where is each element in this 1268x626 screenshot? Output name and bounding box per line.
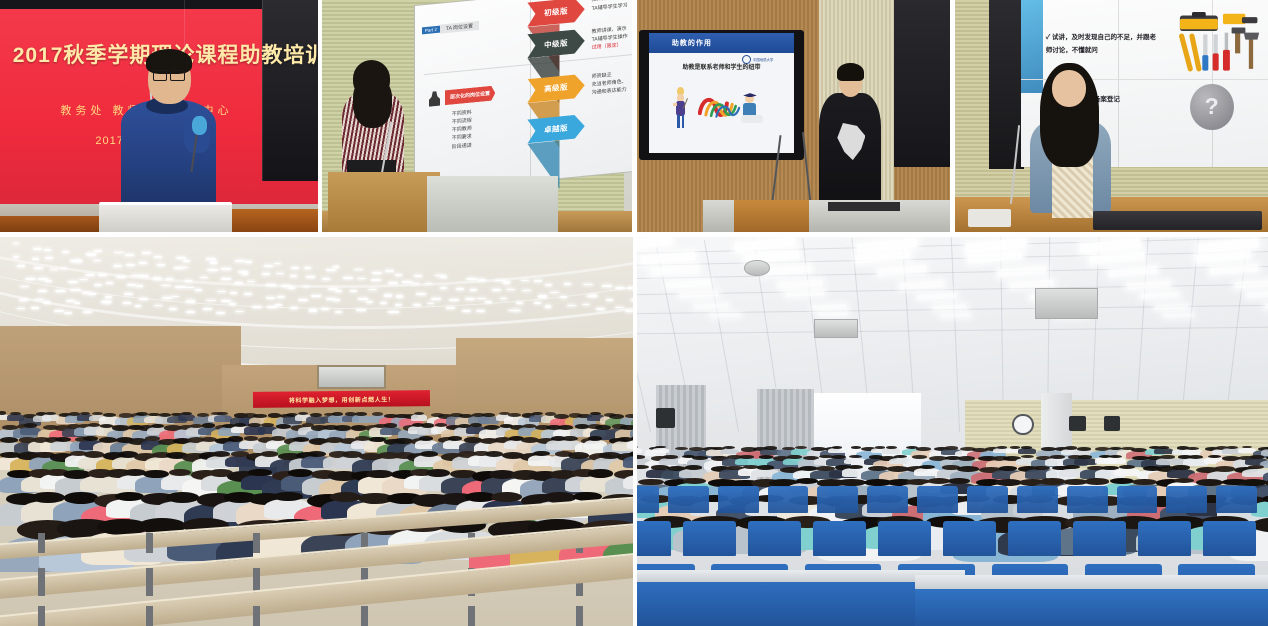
fluorescent-light-panel <box>941 314 970 318</box>
fluorescent-light-panel <box>779 280 822 288</box>
ceiling-downlight <box>136 285 143 287</box>
audience-member-head <box>1085 478 1109 484</box>
ceiling-downlight <box>44 301 51 303</box>
audience-member-head <box>0 411 6 414</box>
audience-member-body <box>1074 458 1097 465</box>
audience-member-body <box>882 448 901 454</box>
toolbox-icon <box>1174 12 1262 72</box>
ceiling-downlight <box>538 295 547 297</box>
ceiling-downlight <box>207 269 218 271</box>
audience-member-head <box>166 492 199 503</box>
ceiling-downlight <box>25 278 36 280</box>
ceiling-downlight <box>55 290 66 292</box>
classroom-seat <box>1166 486 1207 513</box>
audience-member-head <box>330 492 361 502</box>
wall-speaker-center <box>1069 416 1085 432</box>
ceiling-downlight <box>356 309 366 311</box>
ceiling-downlight <box>343 277 353 279</box>
audience-member-head <box>675 447 688 450</box>
audience-member-head <box>414 412 424 415</box>
eyeglasses-left-lens <box>153 70 168 82</box>
audience-member-head <box>851 446 862 449</box>
ceiling-downlight <box>34 267 43 269</box>
slide-section-label: 层次化的岗位设置 <box>445 86 495 106</box>
audience-member-head <box>55 437 71 442</box>
audience-member-head <box>268 413 281 417</box>
ceiling-downlight <box>264 265 273 267</box>
slide-title: 助教的作用 <box>672 38 712 48</box>
ceiling-downlight <box>326 269 336 271</box>
ceiling-downlight <box>275 304 283 306</box>
student-cartoon-icon <box>739 93 765 129</box>
ceiling-downlight <box>333 299 340 301</box>
desk-leg <box>146 568 153 595</box>
classroom-seat <box>817 486 858 513</box>
ceiling-downlight <box>311 295 321 296</box>
desk-leg <box>146 533 153 552</box>
audience-member-head <box>832 446 843 449</box>
audience-member-head <box>692 456 708 460</box>
audience-member-head <box>757 465 774 469</box>
audience-member-head <box>1077 447 1091 451</box>
audience-member-head <box>957 466 979 472</box>
fluorescent-light-panel <box>1109 266 1157 276</box>
ceiling-downlight <box>157 264 166 266</box>
wall-speaker-left <box>656 408 675 427</box>
fluorescent-light-panel <box>763 265 811 275</box>
fluorescent-light-panel <box>1127 280 1170 288</box>
classroom-seat <box>867 486 908 513</box>
audience-member-head <box>764 446 776 449</box>
fluorescent-light-panel <box>1089 251 1144 264</box>
ceiling-downlight <box>425 283 432 284</box>
lectern-wood <box>328 172 440 232</box>
dark-wall-panel <box>989 0 1023 169</box>
ceiling-downlight <box>503 281 511 283</box>
panel-opening-ceremony-speaker: 2017秋季学期理论课程助教培训会 教务处 教师教学发展中心 2017.9 <box>0 0 318 232</box>
classroom-seat <box>1073 521 1126 556</box>
desk-leg <box>253 533 260 552</box>
audience-member-body <box>828 448 846 453</box>
audience-member-head <box>202 423 215 427</box>
lcd-screen: 助教的作用 中国地质大学 助教是联系老师和学生的纽带 <box>649 33 795 153</box>
ceiling-downlight <box>161 285 171 286</box>
audience-member-head <box>1240 479 1267 486</box>
ceiling-downlight <box>288 287 295 289</box>
audience-member-head <box>1158 446 1169 449</box>
ceiling-downlight <box>186 300 195 302</box>
slogan-banner: 将科学融入梦想，用创新点燃人生！ <box>253 390 430 408</box>
panel-flat-classroom-audience <box>637 237 1268 626</box>
slide-title-bar: 助教的作用 <box>649 33 795 52</box>
ceiling-downlight <box>476 310 485 312</box>
audience-member-head <box>588 469 614 477</box>
audience-member-head <box>685 465 702 469</box>
dark-wall-panel <box>894 0 950 167</box>
audience-member-head <box>298 412 308 415</box>
audience-member-head <box>916 447 931 451</box>
audience-member-head <box>420 451 438 457</box>
fluorescent-light-panel <box>933 305 966 310</box>
fluorescent-light-panel <box>877 265 925 275</box>
ceiling-downlight <box>116 276 126 278</box>
ceiling-downlight <box>206 258 216 260</box>
fluorescent-light-panel <box>917 293 955 300</box>
ceiling-downlight <box>125 254 133 256</box>
lectern-console <box>427 176 557 232</box>
audience-member-head <box>244 436 259 441</box>
ceiling-downlight <box>582 304 591 305</box>
ceiling-downlight <box>602 285 612 287</box>
fluorescent-light-panel <box>1265 304 1268 309</box>
wall-clock-icon <box>1012 414 1033 435</box>
ceiling-downlight <box>366 301 374 303</box>
ceiling-downlight <box>106 282 113 284</box>
ceiling-downlight <box>210 261 216 263</box>
audience-member-head <box>24 423 37 427</box>
audience-member-head <box>999 466 1018 471</box>
ceiling-downlight <box>139 262 147 263</box>
desk-leg <box>146 606 153 626</box>
ceiling-downlight <box>516 302 523 304</box>
audience-member-head <box>384 423 397 427</box>
ceiling-downlight <box>306 276 314 278</box>
air-conditioner-vent <box>1035 288 1098 319</box>
audience-member-head <box>1160 455 1174 459</box>
ceiling-downlight <box>185 280 193 282</box>
ceiling-downlight <box>154 256 162 258</box>
ceiling-downlight <box>31 307 39 309</box>
audience-member-head <box>448 436 462 441</box>
fluorescent-light-panel <box>819 313 848 317</box>
ceiling-downlight <box>85 274 95 276</box>
podium <box>99 202 233 232</box>
desk-leg <box>38 568 45 595</box>
audience-member-head <box>293 437 309 442</box>
ceiling-downlight <box>396 295 403 297</box>
ceiling-downlight <box>166 278 173 280</box>
ceiling-downlight <box>534 280 542 281</box>
audience-member-body <box>914 468 940 476</box>
ceiling-downlight <box>625 310 633 312</box>
ceiling-downlight <box>380 302 387 304</box>
ceiling-downlight <box>70 289 81 291</box>
ceiling-downlight <box>175 286 185 288</box>
classroom-seat <box>748 521 801 556</box>
slide-bullet-line-1: ✓ 试讲，及时发现自己的不足，并跟老师讨论，不懂就问 <box>1046 32 1159 57</box>
teacher-cartoon-icon <box>672 87 690 128</box>
audience-member-head <box>1065 446 1077 449</box>
fluorescent-light-panel <box>711 314 740 318</box>
fluorescent-light-panel <box>998 266 1046 276</box>
panel-male-speaker-lcd-screen: 助教的作用 中国地质大学 助教是联系老师和学生的纽带 <box>637 0 950 232</box>
microphone-head <box>192 116 206 135</box>
audience-member-head <box>271 436 285 441</box>
fluorescent-light-panel <box>1196 250 1251 263</box>
ceiling-downlight <box>309 309 318 311</box>
ceiling-downlight <box>79 279 87 280</box>
fluorescent-light-panel <box>637 237 672 251</box>
ceiling-downlight <box>470 289 477 291</box>
audience-member-head <box>261 451 279 457</box>
audience-member-head <box>234 423 246 427</box>
ceiling-downlight <box>135 305 142 307</box>
fluorescent-light-panel <box>856 250 911 263</box>
audience-member-body <box>1018 448 1037 454</box>
desk-leg <box>468 606 475 626</box>
ceiling-downlight <box>564 283 572 285</box>
ceiling-downlight <box>252 306 262 308</box>
panel-female-presenter-chevron-slide: Part 2 TA 岗位设置 层次化的岗位设置 不同资料 不同流程 不同教师 不… <box>322 0 632 232</box>
audience-member-head <box>886 446 897 449</box>
audience-member-body <box>214 415 231 422</box>
panel-large-auditorium-audience: 将科学融入梦想，用创新点燃人生！ <box>0 237 633 626</box>
audience-member-head <box>80 412 90 415</box>
audience-member-head <box>1078 455 1092 459</box>
audience-member-head <box>919 465 935 469</box>
ceiling-downlight <box>371 279 381 281</box>
ceiling-downlight <box>153 277 161 279</box>
ceiling-downlight <box>414 275 422 277</box>
audience-member-head <box>261 423 273 427</box>
classroom-seat <box>1117 486 1158 513</box>
ceiling-downlight <box>83 311 93 313</box>
classroom-seat <box>637 486 659 513</box>
presenter-head <box>1052 70 1086 107</box>
classroom-seat <box>668 486 709 513</box>
ceiling-downlight <box>68 281 78 283</box>
speaker-hair <box>837 63 864 82</box>
fluorescent-light-panel <box>734 237 795 252</box>
eyeglasses-right-lens <box>170 70 185 82</box>
audience-member-body <box>627 440 633 449</box>
fluorescent-light-panel <box>813 304 846 309</box>
ceiling-downlight <box>266 297 276 299</box>
audience-member-head <box>1021 446 1032 449</box>
audience-member-head <box>1250 455 1264 459</box>
audience-member-head <box>995 479 1022 486</box>
slide-body-text: 助教是联系老师和学生的纽带 <box>660 62 783 71</box>
audience-member-head <box>568 452 589 459</box>
ceiling-downlight <box>596 308 605 310</box>
ceiling-downlight <box>262 273 270 275</box>
colorful-ribbon-graphic <box>698 93 742 119</box>
ceiling-downlight <box>384 294 393 296</box>
audience-member-head <box>276 424 291 429</box>
ceiling-downlight <box>522 290 531 291</box>
audience-member-head <box>273 492 303 502</box>
level-notes-2: 教师讲课、演示 TA辅导学生操作 试用（限定） <box>592 24 632 54</box>
classroom-seat <box>1067 486 1108 513</box>
audience-member-head <box>787 455 801 459</box>
ceiling-downlight <box>267 306 277 308</box>
audience-member-head <box>491 492 522 502</box>
ceiling-downlight <box>631 299 633 301</box>
screen-seam <box>262 0 263 181</box>
presenter-hair <box>353 60 390 97</box>
ceiling-downlight <box>127 284 136 286</box>
fluorescent-light-panel <box>1164 313 1193 317</box>
audience-member-head <box>64 492 99 503</box>
ceiling-downlight <box>17 265 25 267</box>
dark-wall-panel <box>262 0 318 181</box>
ceiling-downlight <box>221 300 231 302</box>
audience-member-head <box>426 469 450 477</box>
person-silhouette-icon <box>429 91 440 107</box>
ceiling-downlight <box>388 311 398 313</box>
projection-screen: Part 2 TA 岗位设置 层次化的岗位设置 不同资料 不同流程 不同教师 不… <box>415 0 632 192</box>
ceiling-downlight <box>221 268 231 269</box>
wall-speaker-right <box>1104 416 1120 432</box>
audience-member-body <box>637 448 642 453</box>
audience-member-body <box>652 448 669 453</box>
classroom-seat <box>813 521 866 556</box>
ceiling-downlight <box>290 307 298 309</box>
audience-member-head <box>355 436 370 441</box>
fluorescent-light-panel <box>900 280 943 288</box>
ceiling-downlight <box>416 293 425 295</box>
laptop <box>828 202 900 211</box>
ceiling-downlight <box>440 276 447 278</box>
photo-collage: 2017秋季学期理论课程助教培训会 教务处 教师教学发展中心 2017.9 <box>0 0 1268 626</box>
audience-member-head <box>945 446 957 449</box>
audience-member-head <box>759 455 774 459</box>
ceiling-downlight <box>104 301 110 302</box>
ceiling-downlight <box>333 266 340 267</box>
ceiling-downlight <box>321 308 329 310</box>
air-conditioner-vent <box>814 319 858 338</box>
ceiling-downlight <box>514 310 520 311</box>
screen-seam <box>1118 0 1119 167</box>
ceiling-downlight <box>244 293 252 295</box>
audience-member-head <box>739 455 753 459</box>
classroom-seat <box>1138 521 1191 556</box>
audience-member-head <box>10 412 20 415</box>
classroom-seat <box>718 486 759 513</box>
audience-member-head <box>1109 455 1122 458</box>
ceiling-downlight <box>89 293 95 295</box>
ceiling-downlight <box>277 296 285 298</box>
level-banner-4: 卓越版 <box>527 114 584 144</box>
audience-member-head <box>310 413 322 417</box>
ceiling-downlight <box>477 298 486 300</box>
audience-member-head <box>958 456 976 461</box>
ceiling-downlight <box>186 311 195 313</box>
desk-front-panel-right <box>915 587 1268 626</box>
audience-member-head <box>1186 447 1199 450</box>
level-banner-2: 中级版 <box>527 29 584 59</box>
lectern-wood <box>734 200 809 232</box>
classroom-seat <box>1203 521 1256 556</box>
ceiling-downlight <box>358 298 368 299</box>
level-notes-3: 师资缺乏 充当老师角色、 沟通和表达能力 <box>592 68 632 98</box>
ceiling-downlight <box>431 298 440 300</box>
audience-member-head <box>151 424 164 428</box>
audience-member-head <box>45 412 55 415</box>
fluorescent-light-panel <box>1247 291 1268 298</box>
desk-leg <box>38 533 45 552</box>
podium-wood-left <box>0 216 105 232</box>
audience-member-body <box>1104 457 1126 464</box>
ceiling-downlight <box>169 308 177 310</box>
ceiling-downlight <box>350 290 357 292</box>
ceiling-downlight <box>615 287 625 289</box>
classroom-seat <box>1216 486 1257 513</box>
ceiling-downlight <box>45 257 52 259</box>
ceiling-downlight <box>322 278 330 280</box>
ceiling-downlight <box>534 302 542 304</box>
keyboard <box>1093 211 1262 230</box>
ceiling-downlight <box>216 312 225 314</box>
ceiling-downlight <box>411 283 419 285</box>
ceiling-downlight <box>203 308 212 309</box>
fluorescent-light-panel <box>695 303 728 308</box>
level-notes-1: 教师开课、演示 TA辅导学生学习 <box>592 0 632 13</box>
ceiling-downlight <box>335 290 342 292</box>
fluorescent-light-panel <box>968 250 1023 263</box>
ceiling-downlight <box>395 304 402 306</box>
ceiling-downlight <box>298 299 308 301</box>
classroom-seat <box>967 486 1008 513</box>
fluorescent-light-panel <box>667 280 710 288</box>
audience-member-body <box>623 456 633 468</box>
audience-member-head <box>115 492 144 502</box>
audience-member-head <box>84 451 104 457</box>
audience-member-head <box>1172 465 1189 469</box>
level-banner-1: 初级版 <box>527 0 584 27</box>
audience-member-body <box>411 414 427 421</box>
fluorescent-light-panel <box>1234 280 1268 288</box>
classroom-seat <box>943 521 996 556</box>
classroom-seat <box>637 521 671 556</box>
audience-member-head <box>1208 455 1221 458</box>
slide-section-tag: Part 2 TA 岗位设置 <box>422 19 479 37</box>
ceiling-downlight <box>94 250 102 252</box>
fluorescent-light-panel <box>1155 304 1188 309</box>
audience-member-head <box>948 478 970 484</box>
ceiling-downlight <box>45 280 52 282</box>
ceiling-downlight <box>465 298 475 300</box>
audience-member-head <box>181 412 191 415</box>
classroom-seat <box>683 521 736 556</box>
level-banner-3: 高级版 <box>527 74 584 104</box>
desk-leg <box>253 606 260 626</box>
ceiling-downlight <box>32 258 40 260</box>
audience-member-head <box>663 455 677 459</box>
fluorescent-light-panel <box>1079 238 1140 253</box>
fluorescent-light-panel <box>680 292 718 299</box>
audience-member-body <box>1154 448 1173 454</box>
audience-member-head <box>288 469 312 477</box>
ceiling-downlight <box>372 272 382 274</box>
classroom-seat <box>1008 521 1061 556</box>
classroom-seat <box>917 486 958 513</box>
ceiling-downlight <box>385 270 394 272</box>
ceiling-downlight <box>545 305 551 307</box>
audience-member-head <box>1214 466 1235 472</box>
slide-tag-label: TA 岗位设置 <box>440 21 479 34</box>
audience-member-head <box>1196 479 1222 486</box>
desk-leg <box>576 606 583 626</box>
desk-leg <box>38 606 45 626</box>
slide-bullets: 不同资料 不同流程 不同教师 不同要求 阶段递进 <box>452 104 516 151</box>
ceiling-downlight <box>221 278 231 279</box>
ceiling-downlight <box>195 289 201 291</box>
classroom-seat <box>878 521 931 556</box>
audience-member-head <box>1040 478 1064 484</box>
audience-member-head <box>868 466 888 471</box>
ceiling-downlight <box>124 293 132 295</box>
